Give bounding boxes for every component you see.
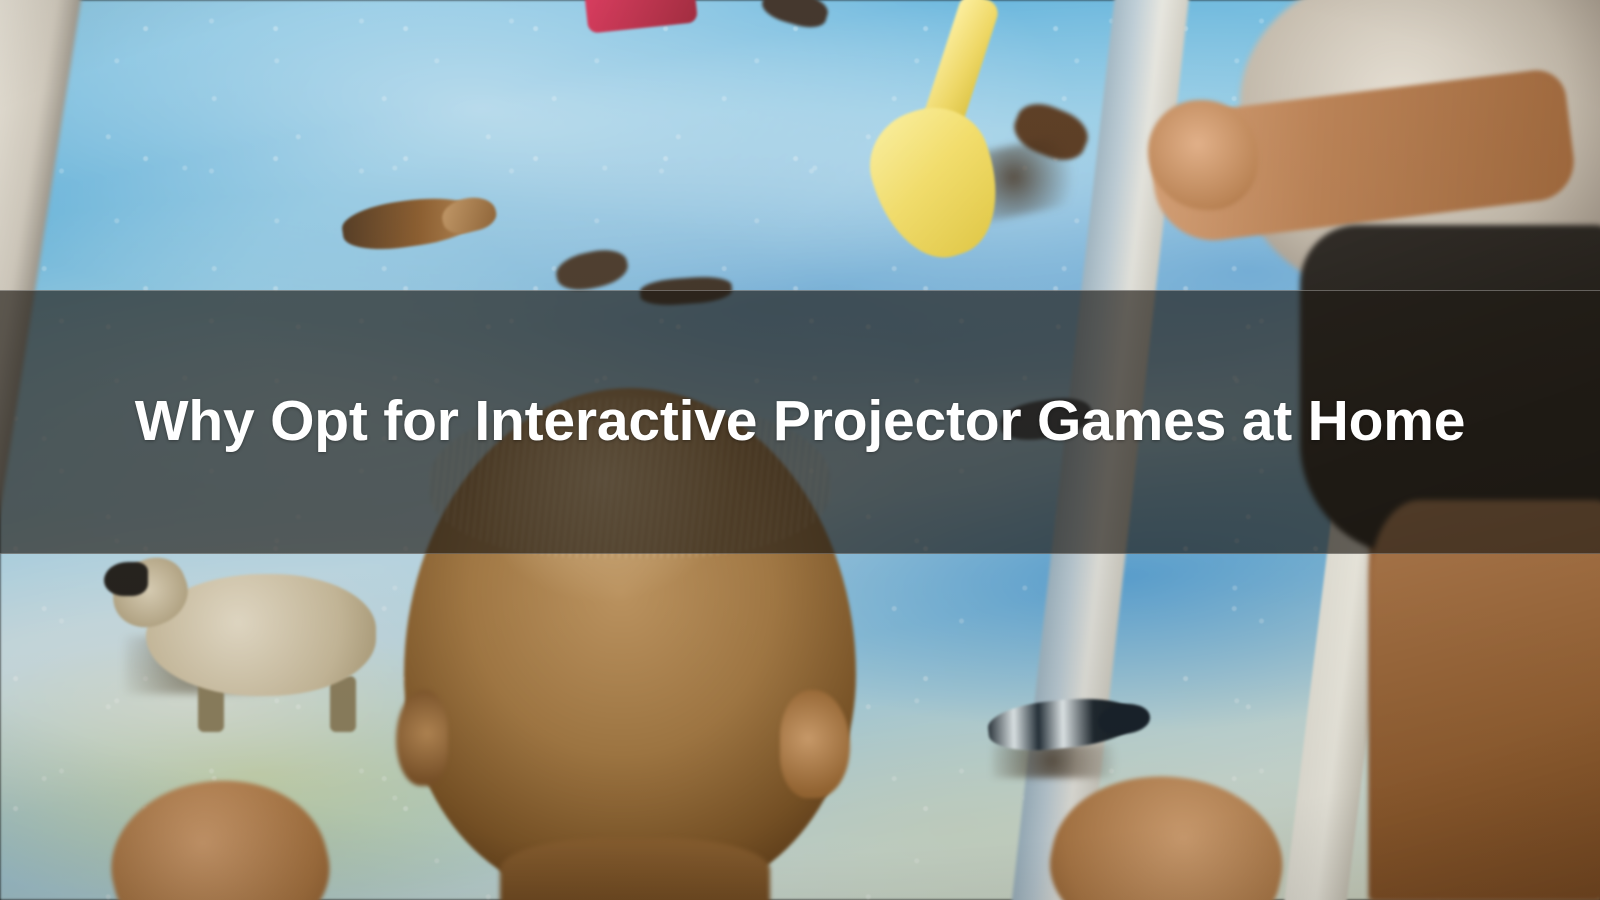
toy-sheep-leg-rear bbox=[330, 676, 356, 732]
hero-banner: Why Opt for Interactive Projector Games … bbox=[0, 0, 1600, 900]
child-ear-left bbox=[396, 690, 448, 786]
title-overlay-band: Why Opt for Interactive Projector Games … bbox=[0, 290, 1600, 554]
child-ear-right bbox=[780, 690, 850, 798]
toy-sheep-horn bbox=[104, 562, 148, 596]
adult-leg bbox=[1370, 500, 1600, 900]
child-neck bbox=[500, 838, 770, 900]
page-title: Why Opt for Interactive Projector Games … bbox=[135, 382, 1465, 462]
